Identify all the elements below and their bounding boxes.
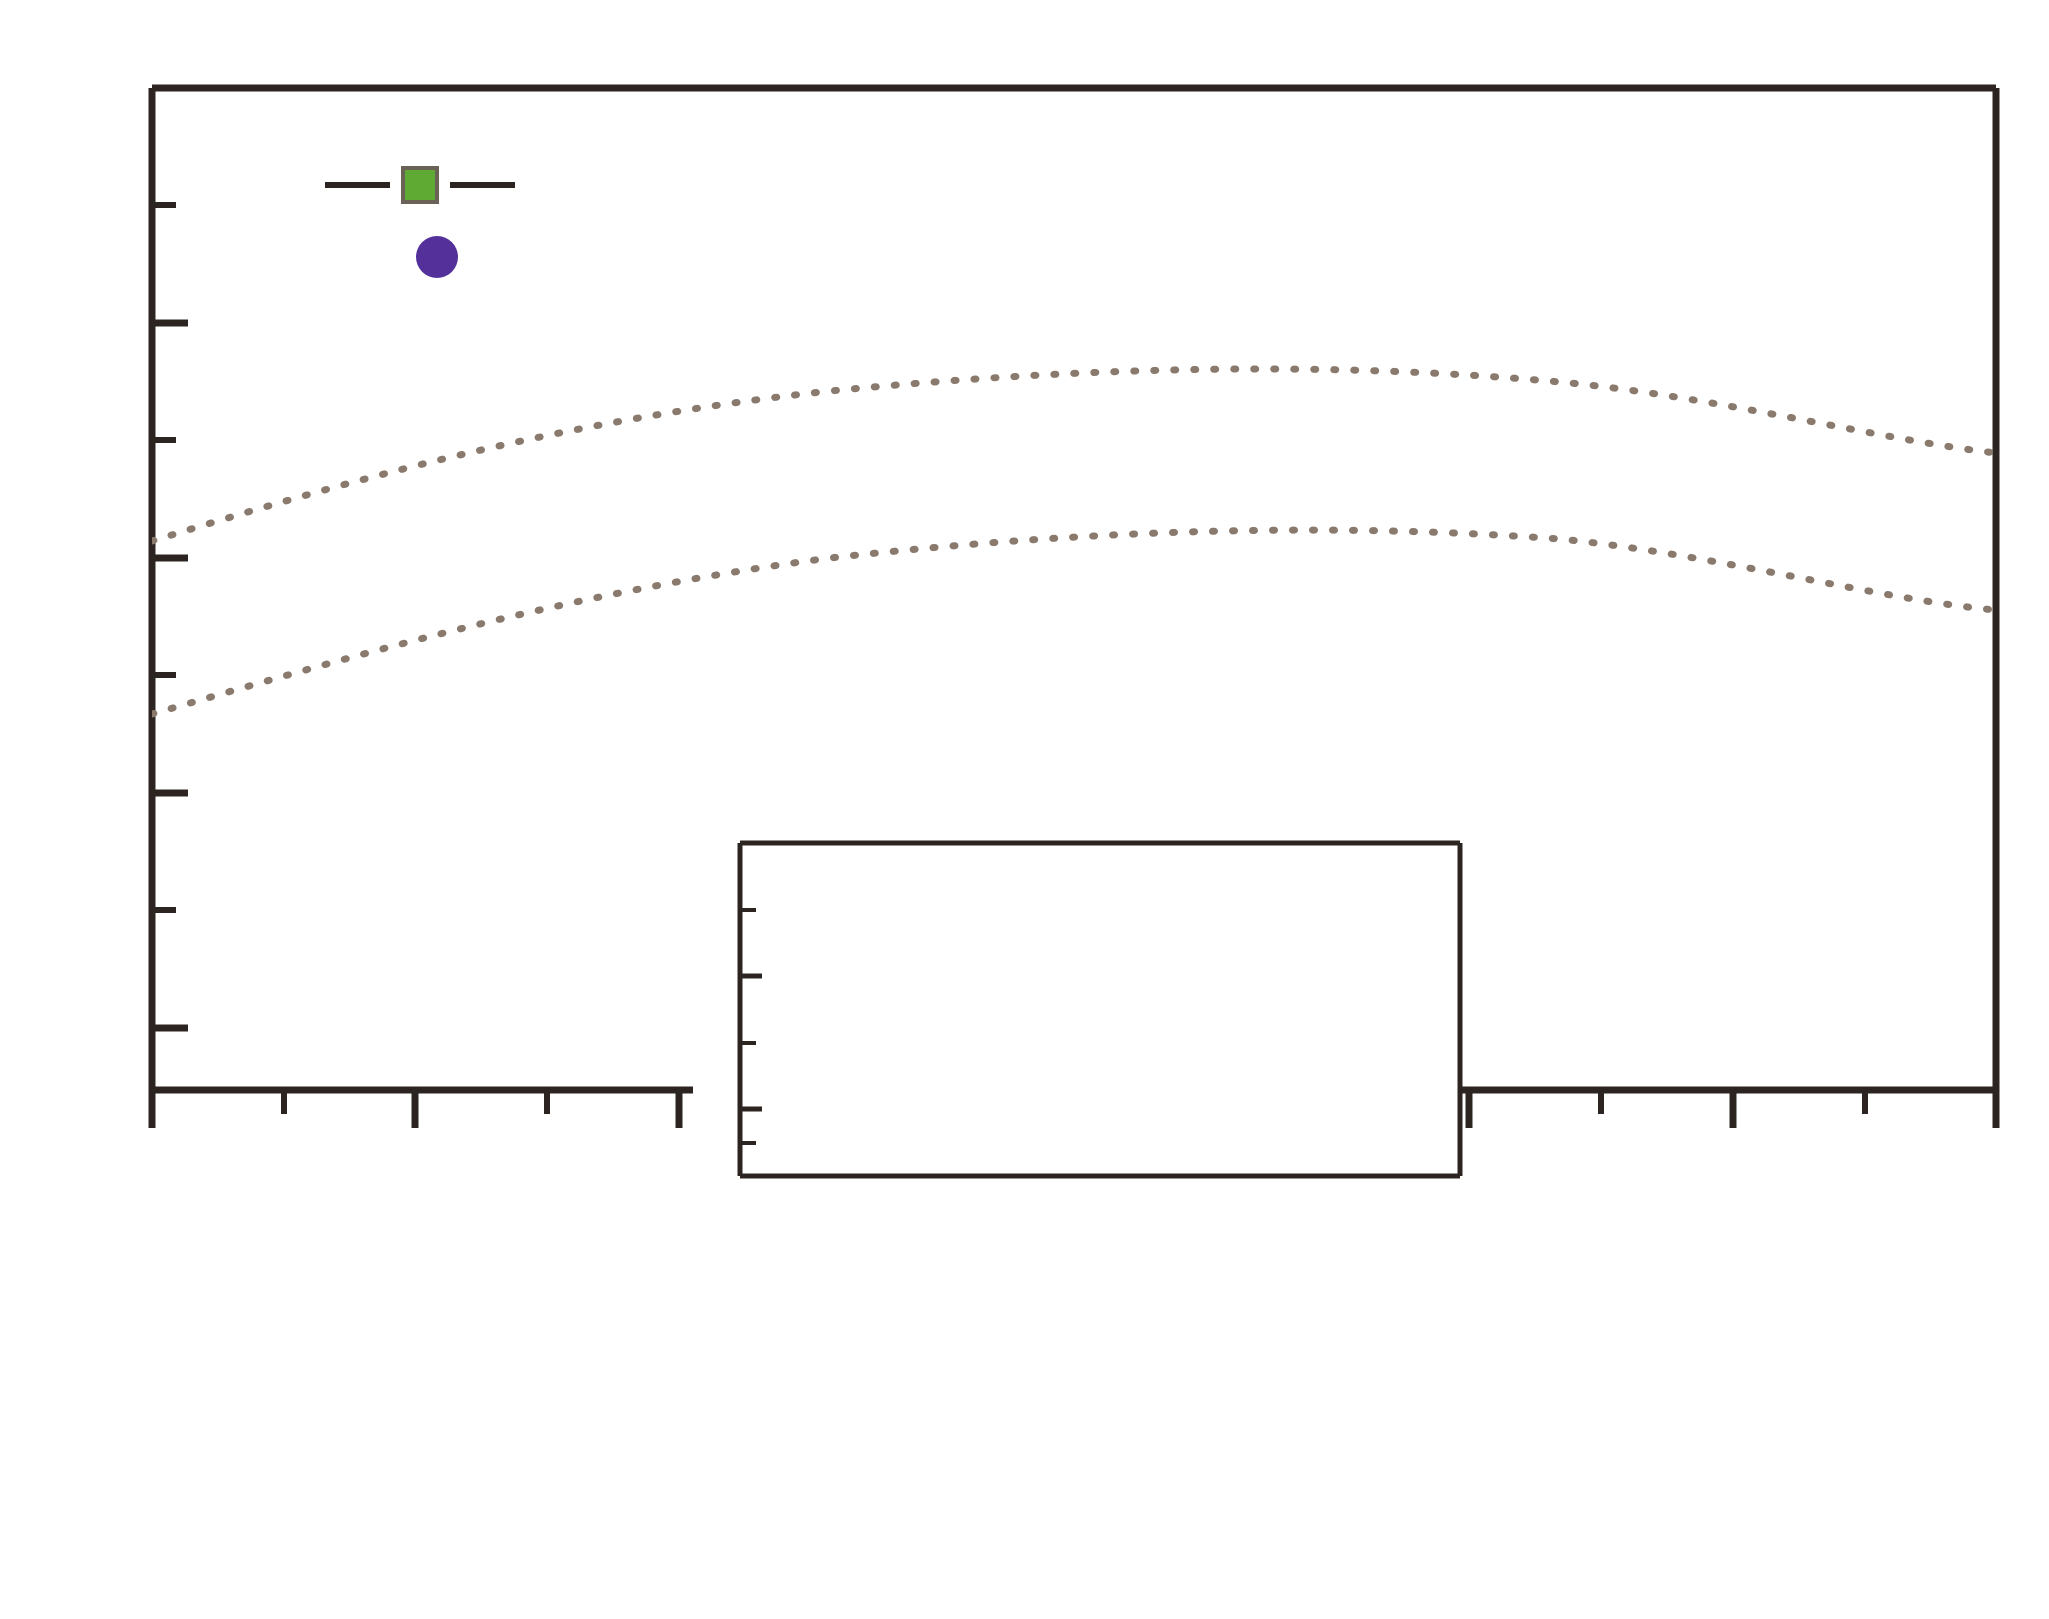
legend-square-marker xyxy=(403,168,437,202)
main-chart-svg xyxy=(0,0,2049,1619)
background xyxy=(0,0,2049,1619)
inset-spectrum xyxy=(693,833,1460,1335)
legend-circle-marker xyxy=(416,236,458,278)
legend-item-sciamachy[interactable] xyxy=(416,236,458,278)
figure-root xyxy=(0,0,2049,1619)
